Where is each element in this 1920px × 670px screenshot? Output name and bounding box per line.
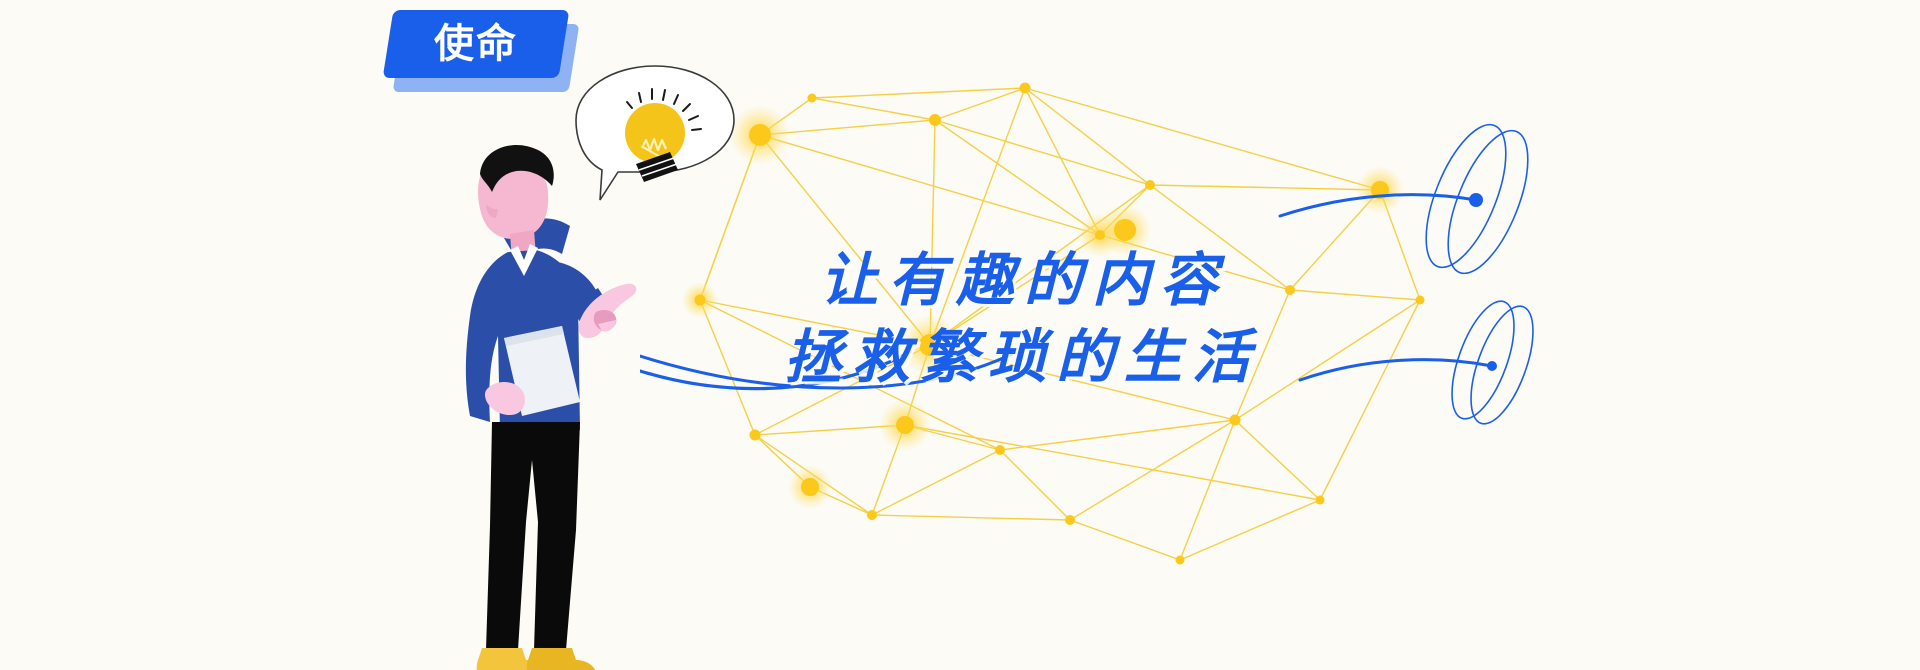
mission-banner: 使命 — [0, 0, 1920, 670]
mission-badge[interactable]: 使命 — [388, 10, 574, 92]
headline-line-2: 拯救繁琐的生活 — [784, 319, 1440, 396]
pointing-person — [430, 130, 740, 670]
headline: 让有趣的内容 拯救繁琐的生活 — [820, 242, 1440, 395]
idea-bubble — [570, 60, 740, 205]
badge-plate: 使命 — [383, 10, 570, 78]
badge-label: 使命 — [434, 24, 518, 64]
headline-line-1: 让有趣的内容 — [820, 242, 1440, 319]
